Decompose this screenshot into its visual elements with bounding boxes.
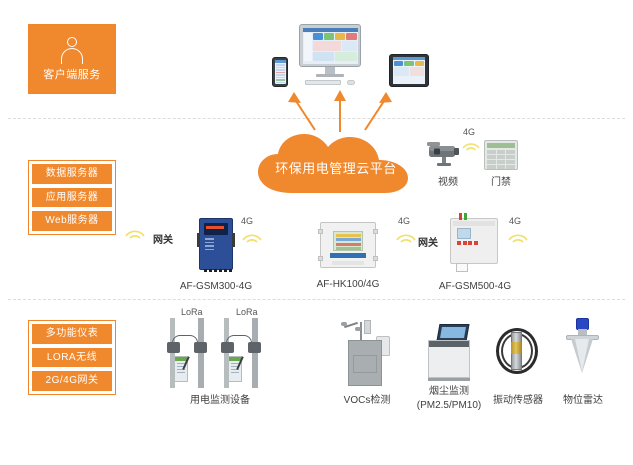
caption-level-radar: 物位雷达 — [552, 394, 614, 408]
phone-screen — [275, 60, 286, 84]
caption-vocs: VOCs检测 — [330, 394, 404, 408]
topology-diagram: 客户端服务 数据服务器 应用服务器 Web服务器 多功能仪表 LORA无线 2G… — [0, 0, 633, 465]
tag-app-server[interactable]: 应用服务器 — [32, 188, 112, 208]
device-desktop-monitor[interactable] — [299, 24, 361, 86]
caption-dust-line2: (PM2.5/PM10) — [410, 399, 488, 413]
tier-divider-bottom — [8, 299, 625, 300]
group-servers: 数据服务器 应用服务器 Web服务器 — [28, 160, 116, 235]
tag-web-server[interactable]: Web服务器 — [32, 211, 112, 231]
link-label-gateway-3: 4G — [509, 216, 521, 226]
phone-shell — [272, 57, 288, 87]
device-level-radar[interactable] — [560, 318, 606, 384]
tablet-shell — [389, 54, 429, 87]
role-label-gateway-2: 网关 — [418, 234, 438, 249]
device-energy-meter-2[interactable] — [222, 318, 268, 390]
cloud-platform[interactable]: 环保用电管理云平台 — [252, 133, 420, 195]
device-access-control[interactable] — [484, 140, 518, 172]
caption-af-gsm500: AF-GSM500-4G — [433, 280, 517, 294]
person-icon — [60, 37, 84, 65]
keypad — [484, 140, 518, 170]
device-af-hk100[interactable] — [318, 222, 378, 270]
gw2-body — [320, 222, 376, 268]
caption-af-hk100: AF-HK100/4G — [298, 278, 398, 292]
group-client-service[interactable]: 客户端服务 — [28, 24, 116, 94]
caption-vibration-sensor: 振动传感器 — [486, 394, 550, 408]
caption-dust-monitor: 烟尘监测 (PM2.5/PM10) — [410, 385, 488, 412]
group-label-client-service: 客户端服务 — [43, 67, 101, 82]
mouse — [347, 80, 355, 85]
cloud-platform-label: 环保用电管理云平台 — [252, 133, 420, 195]
link-label-gateway-2: 4G — [398, 216, 410, 226]
device-smartphone[interactable] — [272, 57, 288, 87]
link-label-meter-1: LoRa — [181, 307, 203, 317]
caption-video: 视频 — [425, 176, 471, 190]
device-tablet[interactable] — [389, 54, 429, 87]
tablet-screen — [393, 57, 425, 84]
device-vibration-sensor[interactable] — [494, 322, 542, 382]
keyboard — [305, 80, 341, 85]
tag-2g4g-gateway[interactable]: 2G/4G网关 — [32, 371, 112, 391]
monitor-neck — [325, 67, 335, 74]
device-dust-monitor[interactable] — [424, 322, 474, 384]
caption-energy-meter: 用电监测设备 — [168, 394, 272, 408]
monitor-base — [316, 74, 344, 77]
device-vocs-detector[interactable] — [340, 318, 394, 388]
device-energy-meter-1[interactable] — [168, 318, 214, 390]
monitor-bezel — [299, 24, 361, 67]
caption-af-gsm300: AF-GSM300-4G — [176, 280, 256, 294]
monitor-screen — [303, 28, 358, 64]
tag-data-server[interactable]: 数据服务器 — [32, 164, 112, 184]
role-label-gateway-1: 网关 — [153, 231, 173, 246]
uplink-arrows — [280, 86, 400, 134]
caption-dust-line1: 烟尘监测 — [410, 385, 488, 399]
link-label-video-4g: 4G — [463, 127, 475, 137]
signal-arc-gateway-2 — [395, 228, 417, 243]
device-af-gsm500[interactable] — [448, 218, 500, 274]
link-label-gateway-1: 4G — [241, 216, 253, 226]
link-label-meter-2: LoRa — [236, 307, 258, 317]
device-af-gsm300[interactable] — [196, 218, 236, 273]
device-video-camera[interactable] — [425, 140, 471, 172]
caption-access-control: 门禁 — [484, 176, 518, 190]
tag-multifunction-meter[interactable]: 多功能仪表 — [32, 324, 112, 344]
tag-lora-wireless[interactable]: LORA无线 — [32, 348, 112, 368]
group-field-devices: 多功能仪表 LORA无线 2G/4G网关 — [28, 320, 116, 395]
gw3-body — [450, 218, 498, 264]
signal-arc-gateway-3 — [507, 228, 529, 243]
signal-arc-gateway-1-right — [241, 228, 263, 243]
camera-icon — [425, 140, 471, 172]
gw1-body — [199, 218, 233, 270]
signal-arc-gateway-1-left — [124, 224, 146, 239]
